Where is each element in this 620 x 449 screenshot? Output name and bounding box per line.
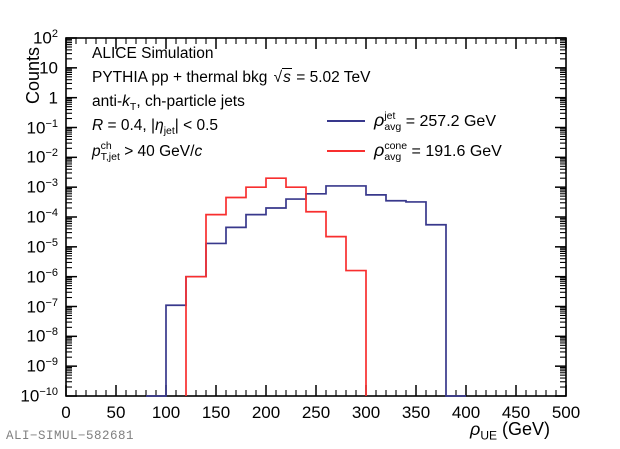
annotation-anti-prefix: anti-	[92, 93, 122, 110]
y-tick-label: 10−8	[0, 328, 58, 345]
legend-value-cone: = 191.6 GeV	[412, 143, 502, 160]
y-tick-label: 10−1	[0, 119, 58, 136]
annotation-line-2: PYTHIA pp + thermal bkg √s = 5.02 TeV	[92, 69, 370, 93]
x-tick-label: 250	[302, 404, 330, 421]
legend-entry-jet: ρjetavg = 257.2 GeV	[327, 106, 502, 136]
y-tick-label: 10	[0, 59, 58, 76]
x-tick-label: 500	[552, 404, 580, 421]
x-tick-label: 100	[152, 404, 180, 421]
legend-entry-cone: ρconeavg = 191.6 GeV	[327, 136, 502, 166]
annotation-line-2-text: PYTHIA pp + thermal bkg	[92, 69, 267, 86]
legend-sub-jet: avg	[384, 122, 401, 133]
annotation-c-symbol: c	[194, 143, 202, 160]
watermark-label: ALI−SIMUL−582681	[6, 429, 134, 443]
legend-rho-cone: ρ	[374, 140, 384, 160]
histogram-rho_avg_jet	[146, 186, 466, 396]
annotation-pt-sub: T,jet	[101, 152, 120, 163]
y-tick-label: 10−10	[0, 388, 58, 405]
legend-indices-jet: jetavg	[384, 111, 401, 132]
annotation-eta-limit: < 0.5	[183, 117, 218, 134]
y-tick-label: 10−3	[0, 179, 58, 196]
annotation-eta-symbol: η	[155, 117, 164, 134]
legend-rho-jet: ρ	[374, 110, 384, 130]
x-tick-label: 0	[61, 404, 70, 421]
y-tick-label: 10−4	[0, 209, 58, 226]
legend-sup-cone: cone	[384, 141, 407, 152]
legend-sub-cone: avg	[384, 152, 407, 163]
y-tick-label: 1	[0, 89, 58, 106]
sqrt-s-symbol: √s	[272, 69, 292, 87]
legend-swatch-jet	[327, 120, 365, 122]
x-tick-label: 300	[352, 404, 380, 421]
legend-swatch-cone	[327, 150, 365, 152]
annotation-kt-k: k	[122, 93, 130, 110]
legend-label-jet: ρjetavg = 257.2 GeV	[374, 110, 496, 132]
legend-sup-jet: jet	[384, 111, 401, 122]
annotation-eta-sub: jet	[164, 125, 175, 137]
y-tick-label: 10−7	[0, 298, 58, 315]
x-tick-label: 50	[107, 404, 126, 421]
histogram-rho_avg_cone	[186, 178, 366, 396]
legend-label-cone: ρconeavg = 191.6 GeV	[374, 140, 502, 162]
y-tick-label: 10−2	[0, 149, 58, 166]
x-axis-title-sub: UE	[480, 429, 497, 443]
x-tick-label: 200	[252, 404, 280, 421]
annotation-line-2-energy: = 5.02 TeV	[296, 69, 370, 86]
x-axis-title-unit: (GeV)	[502, 419, 550, 439]
x-tick-label: 400	[452, 404, 480, 421]
x-axis-title-rho: ρ	[470, 419, 480, 439]
sqrt-s-var: s	[282, 68, 292, 86]
y-tick-label: 10−9	[0, 358, 58, 375]
y-tick-label: 102	[0, 30, 58, 47]
legend-value-jet: = 257.2 GeV	[406, 113, 496, 130]
legend: ρjetavg = 257.2 GeV ρconeavg = 191.6 GeV	[327, 106, 502, 166]
x-axis-title: ρUE (GeV)	[470, 420, 550, 438]
y-tick-label: 10−5	[0, 238, 58, 255]
annotation-pt-symbol: p	[92, 143, 101, 160]
annotation-line-1: ALICE Simulation	[92, 45, 370, 69]
annotation-line-3-rest: , ch-particle jets	[136, 93, 245, 110]
x-tick-label: 350	[402, 404, 430, 421]
annotation-pt-cut: > 40 GeV/	[124, 143, 194, 160]
x-tick-label: 150	[202, 404, 230, 421]
x-tick-label: 450	[502, 404, 530, 421]
legend-indices-cone: coneavg	[384, 141, 407, 162]
annotation-eta-bar-close: |	[175, 117, 179, 134]
y-tick-label: 10−6	[0, 268, 58, 285]
annotation-pt-indices: chT,jet	[101, 141, 120, 162]
annotation-R-value: = 0.4,	[108, 117, 147, 134]
annotation-R-symbol: R	[92, 117, 103, 134]
